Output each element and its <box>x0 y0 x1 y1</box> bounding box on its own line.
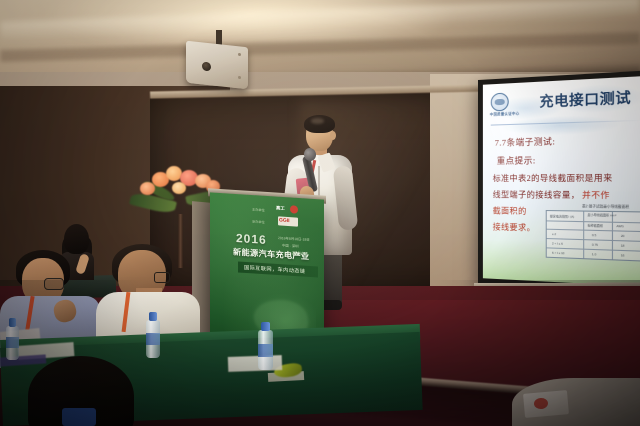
conference-photo: 中国质量认证中心 充电接口测试 7.7条端子测试: 重点提示: 标准中表2的导线… <box>0 0 640 426</box>
podium-main-title-suffix: 高峰论坛 <box>292 250 308 257</box>
ceiling-projector-icon <box>186 41 248 90</box>
screen-glare <box>483 76 640 287</box>
podium-logo-primary-text: 高工 <box>276 205 285 212</box>
projector-screw <box>238 76 241 79</box>
slide-surface: 中国质量认证中心 充电接口测试 7.7条端子测试: 重点提示: 标准中表2的导线… <box>483 76 640 287</box>
flower-stand <box>178 214 183 268</box>
podium-logo-secondary-text: GGII <box>279 217 290 224</box>
projector-lens-icon <box>202 62 211 72</box>
podium-logo-mark <box>290 205 298 214</box>
floor-vignette <box>0 280 640 426</box>
podium-sponsor-label-1: 主办单位 <box>252 207 265 213</box>
flower-blossom <box>172 182 186 194</box>
podium-logo-primary: 高工 <box>276 204 298 213</box>
podium-logo-secondary: GGII <box>278 216 298 226</box>
flower-blossom <box>140 182 155 195</box>
podium-date-line-2: 中国 · 深圳 <box>282 242 299 248</box>
podium-sponsor-label-2: 承办单位 <box>252 219 265 225</box>
projector-screw <box>238 53 241 56</box>
speaker-hair-highlight <box>311 118 324 124</box>
attendee-woman-hair-top <box>64 224 89 254</box>
speaker-ear <box>330 131 336 140</box>
projection-screen: 中国质量认证中心 充电接口测试 7.7条端子测试: 重点提示: 标准中表2的导线… <box>478 70 640 295</box>
podium-year: 2016 <box>236 231 267 247</box>
